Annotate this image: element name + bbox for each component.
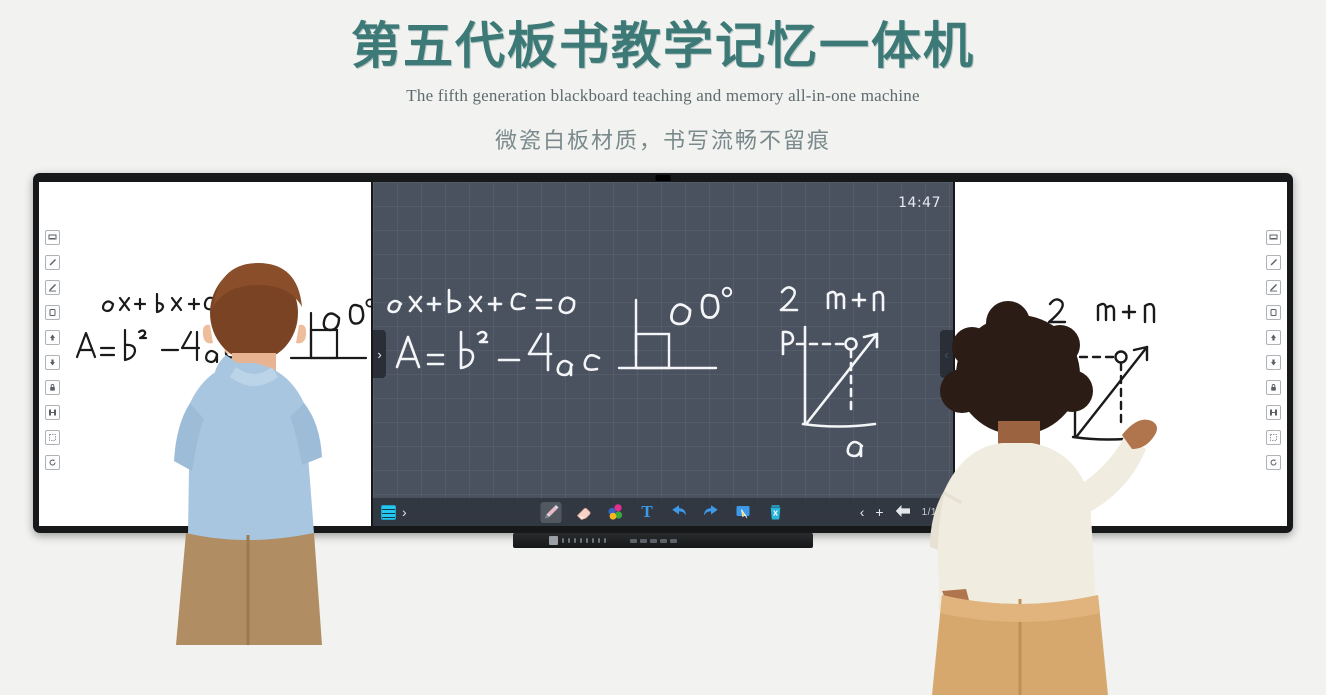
- subtitle-chinese: 微瓷白板材质，书写流畅不留痕: [0, 123, 1326, 155]
- blackboard-handwriting: [373, 182, 953, 524]
- add-page-button[interactable]: +: [875, 505, 883, 519]
- minimize-icon[interactable]: [1266, 230, 1281, 245]
- eraser-icon[interactable]: [45, 305, 60, 320]
- arrow-down-icon[interactable]: [45, 355, 60, 370]
- subtitle-english: The fifth generation blackboard teaching…: [0, 86, 1326, 106]
- marker-icon[interactable]: [45, 280, 60, 295]
- base-indicator: [568, 538, 570, 543]
- lock-icon[interactable]: [45, 380, 60, 395]
- base-port: [640, 539, 647, 543]
- base-indicator: [562, 538, 564, 543]
- person-writing-right: [900, 295, 1200, 695]
- list-menu-icon[interactable]: [381, 505, 396, 520]
- arrow-down-icon[interactable]: [1266, 355, 1281, 370]
- person-writing-left: [118, 235, 378, 645]
- pen-icon[interactable]: [1266, 255, 1281, 270]
- camera-icon: [656, 175, 671, 181]
- toolbar-expand-chevron-icon[interactable]: ›: [399, 504, 410, 520]
- toolbar-tools-group: T: [541, 502, 786, 523]
- device-area: 14:47 › ‹: [0, 170, 1326, 643]
- right-panel-side-toolbar: [1266, 230, 1281, 470]
- arrow-up-icon[interactable]: [1266, 330, 1281, 345]
- refresh-icon[interactable]: [1266, 455, 1281, 470]
- device-control-base: [513, 533, 813, 548]
- delete-button[interactable]: [765, 502, 786, 523]
- eraser-icon[interactable]: [1266, 305, 1281, 320]
- text-tool-label: T: [641, 502, 652, 522]
- clock-display: 14:47: [898, 195, 941, 211]
- base-port: [670, 539, 677, 543]
- text-tool[interactable]: T: [637, 502, 658, 523]
- base-indicator: [604, 538, 606, 543]
- page-title: 第五代板书教学记忆一体机: [0, 18, 1326, 76]
- base-indicator: [580, 538, 582, 543]
- interactive-blackboard-screen[interactable]: 14:47 › ‹: [373, 182, 953, 526]
- blackboard-bottom-toolbar: ›: [373, 498, 953, 526]
- lock-icon[interactable]: [1266, 380, 1281, 395]
- base-indicator: [574, 538, 576, 543]
- minimize-icon[interactable]: [45, 230, 60, 245]
- brand-logo: [549, 536, 558, 545]
- base-indicator: [598, 538, 600, 543]
- pen-icon[interactable]: [45, 255, 60, 270]
- split-screen-icon[interactable]: [1266, 405, 1281, 420]
- marker-icon[interactable]: [1266, 280, 1281, 295]
- base-port: [660, 539, 667, 543]
- promo-header: 第五代板书教学记忆一体机 The fifth generation blackb…: [0, 0, 1326, 155]
- base-port: [650, 539, 657, 543]
- eraser-tool[interactable]: [573, 502, 594, 523]
- base-port: [630, 539, 637, 543]
- left-panel-side-toolbar: [45, 230, 60, 470]
- prev-page-button[interactable]: ‹: [860, 505, 865, 519]
- undo-button[interactable]: [669, 502, 690, 523]
- screenshot-icon[interactable]: [45, 430, 60, 445]
- base-ports-group: [630, 539, 677, 543]
- split-screen-icon[interactable]: [45, 405, 60, 420]
- base-indicator: [592, 538, 594, 543]
- toolbar-left-group: ›: [373, 504, 410, 520]
- shapes-tool[interactable]: [605, 502, 626, 523]
- select-tool[interactable]: [733, 502, 754, 523]
- refresh-icon[interactable]: [45, 455, 60, 470]
- arrow-up-icon[interactable]: [45, 330, 60, 345]
- redo-button[interactable]: [701, 502, 722, 523]
- pen-tool[interactable]: [541, 502, 562, 523]
- screenshot-icon[interactable]: [1266, 430, 1281, 445]
- base-indicator: [586, 538, 588, 543]
